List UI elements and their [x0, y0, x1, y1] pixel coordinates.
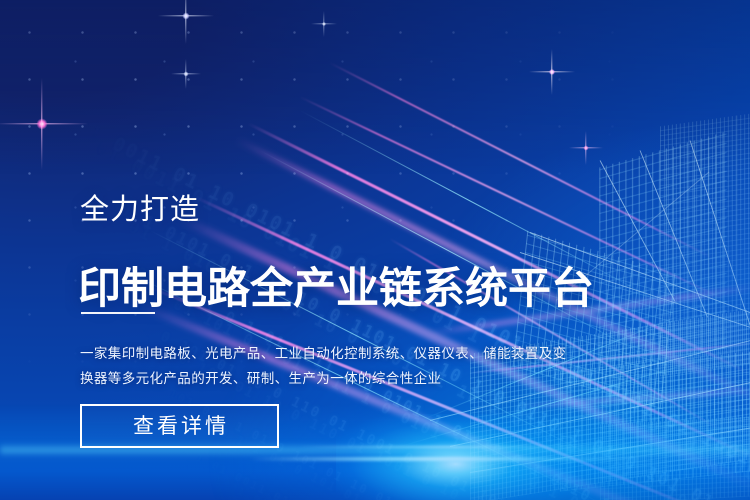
hero-banner: 01 0101 01 1001 0 10 01 101 0 1 01 0011 … — [0, 0, 750, 500]
hero-content: 全力打造 印制电路全产业链系统平台 一家集印制电路板、光电产品、工业自动化控制系… — [80, 0, 700, 500]
view-details-button[interactable]: 查看详情 — [80, 404, 279, 448]
view-details-button-label: 查看详情 — [130, 416, 229, 437]
page-title: 印制电路全产业链系统平台 — [78, 267, 594, 313]
hero-eyebrow: 全力打造 — [80, 196, 200, 225]
title-divider — [81, 312, 155, 314]
hero-subtitle: 一家集印制电路板、光电产品、工业自动化控制系统、仪器仪表、储能装置及变换器等多元… — [80, 341, 580, 391]
